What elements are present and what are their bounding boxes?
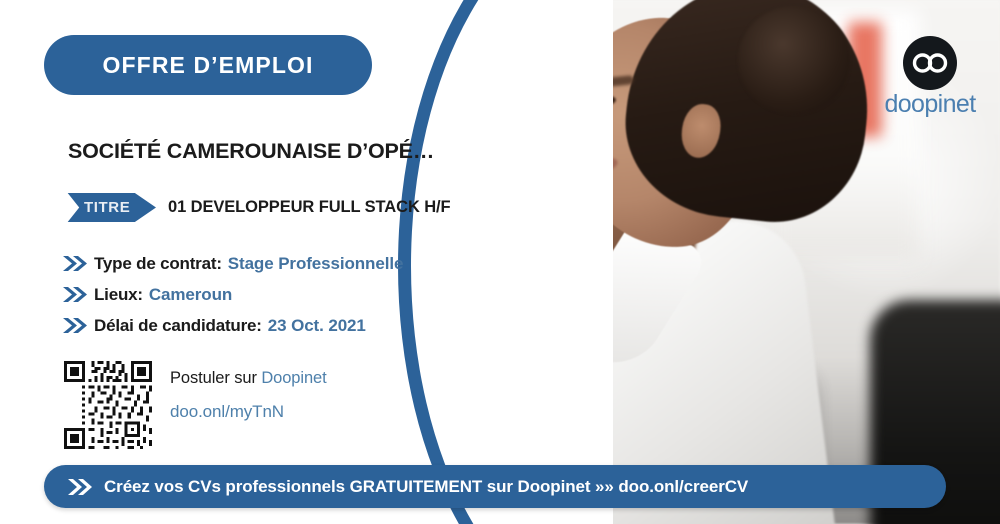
- title-badge: TITRE: [60, 193, 156, 222]
- content-area: OFFRE D’EMPLOI SOCIÉTÉ CAMEROUNAISE D’OP…: [0, 0, 480, 524]
- double-chevron-icon: [62, 317, 88, 334]
- detail-label: Délai de candidature:: [94, 316, 262, 336]
- double-chevron-icon: [62, 286, 88, 303]
- apply-text-block: Postuler sur Doopinet doo.onl/myTnN: [170, 361, 327, 422]
- job-title-row: TITRE 01 DEVELOPPEUR FULL STACK H/F: [60, 193, 451, 222]
- offer-badge: OFFRE D’EMPLOI: [44, 35, 372, 95]
- apply-short-url[interactable]: doo.onl/myTnN: [170, 402, 327, 422]
- infinity-loop-icon: [903, 36, 957, 90]
- job-title: 01 DEVELOPPEUR FULL STACK H/F: [168, 198, 451, 217]
- cta-banner[interactable]: Créez vos CVs professionnels GRATUITEMEN…: [44, 465, 946, 508]
- detail-value: 23 Oct. 2021: [268, 316, 366, 336]
- job-offer-poster: OFFRE D’EMPLOI SOCIÉTÉ CAMEROUNAISE D’OP…: [0, 0, 1000, 524]
- detail-label: Type de contrat:: [94, 254, 222, 274]
- photo-hair-bun: [738, 6, 850, 114]
- qr-code[interactable]: [64, 361, 152, 449]
- double-chevron-icon: [62, 255, 88, 272]
- detail-label: Lieux:: [94, 285, 143, 305]
- double-chevron-icon: [66, 478, 92, 496]
- doopinet-logo: doopinet: [882, 36, 978, 117]
- title-badge-label: TITRE: [60, 199, 130, 216]
- cta-label: Créez vos CVs professionnels GRATUITEMEN…: [104, 477, 748, 497]
- detail-row-deadline: Délai de candidature: 23 Oct. 2021: [62, 310, 482, 341]
- company-name: SOCIÉTÉ CAMEROUNAISE D’OPÉ…: [68, 139, 468, 164]
- job-details-list: Type de contrat: Stage Professionnelle L…: [62, 248, 482, 341]
- detail-row-contract-type: Type de contrat: Stage Professionnelle: [62, 248, 482, 279]
- offer-badge-label: OFFRE D’EMPLOI: [103, 52, 314, 79]
- apply-section: Postuler sur Doopinet doo.onl/myTnN: [64, 361, 327, 449]
- apply-brand: Doopinet: [261, 369, 326, 387]
- detail-value: Stage Professionnelle: [228, 254, 404, 274]
- detail-row-location: Lieux: Cameroun: [62, 279, 482, 310]
- detail-value: Cameroun: [149, 285, 232, 305]
- logo-wordmark: doopinet: [882, 92, 978, 117]
- apply-instruction: Postuler sur Doopinet: [170, 369, 327, 388]
- apply-prefix: Postuler sur: [170, 369, 261, 387]
